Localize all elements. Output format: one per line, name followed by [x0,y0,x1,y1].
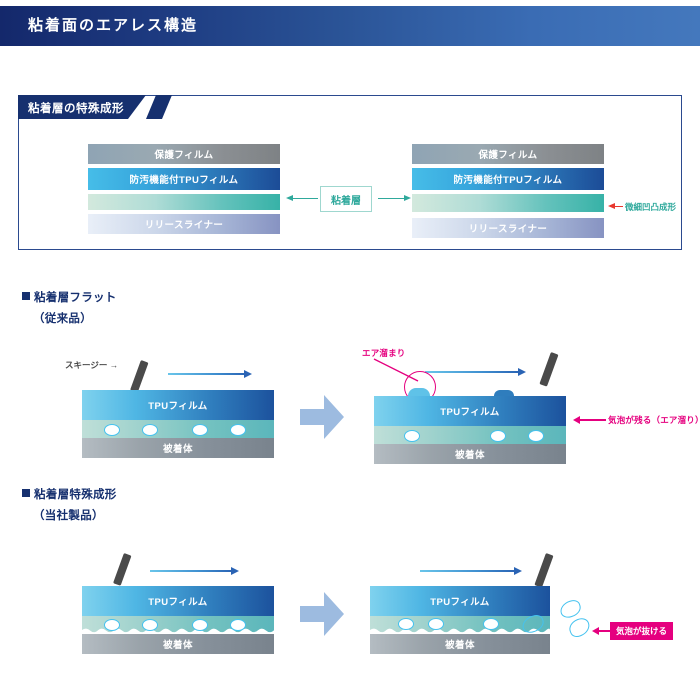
flat-left-diagram: TPUフィルム 被着体 [82,390,274,458]
adhesive-layer-textured [370,616,550,634]
adhesive-arrow-right-line [378,198,404,199]
section-flat-subheading: （従来品） [33,310,92,326]
substrate-layer: 被着体 [370,634,550,654]
escaping-air-bubble [567,616,593,640]
squeegee-icon [130,360,148,393]
squeegee-label: スキージー → [65,359,118,371]
adhesive-layer [82,420,274,438]
layer-release-liner: リリースライナー [412,218,604,238]
adhesive-layer-callout-box: 粘着層 [320,186,372,212]
layer-antifouling-tpu-film: 防汚機能付TPUフィルム [88,168,280,190]
squeegee-icon [534,553,553,588]
textured-right-diagram: TPUフィルム 被着体 [370,586,550,654]
air-bubble [142,619,158,631]
squeegee-icon [539,352,558,387]
section-flat-heading: 粘着層フラット [22,289,117,305]
tpu-film-layer: TPUフィルム [374,396,566,426]
air-bubble [490,430,506,442]
air-bubble [192,424,208,436]
air-pocket-label: エア溜まり [362,347,406,359]
section-textured-subheading: （当社製品） [33,507,104,523]
escaping-air-bubble [558,598,583,620]
panel-tab-label: 粘着層の特殊成形 [28,100,124,116]
layer-antifouling-tpu-film: 防汚機能付TPUフィルム [412,168,604,190]
micro-texture-arrow-line [614,206,623,207]
direction-arrow-line [168,373,246,375]
substrate-layer: 被着体 [374,444,566,464]
adhesive-arrow-left-line [292,198,318,199]
left-layer-stack: 保護フィルム 防汚機能付TPUフィルム リリースライナー [88,144,280,234]
section-textured-heading-text: 粘着層特殊成形 [34,489,117,501]
air-bubble [104,619,120,631]
air-bubble [192,619,208,631]
layer-protective-film: 保護フィルム [88,144,280,164]
substrate-layer: 被着体 [82,634,274,654]
textured-left-diagram: TPUフィルム 被着体 [82,586,274,654]
air-bubble [398,618,414,630]
direction-arrow-head [518,368,526,376]
air-bubble [230,424,246,436]
surface-bumps-row [374,388,566,396]
direction-arrow-head [514,567,522,575]
adhesive-layer [374,426,566,444]
air-bubble [404,430,420,442]
air-escape-label-box: 気泡が抜ける [610,622,673,640]
direction-arrow-line [150,570,233,572]
square-bullet-icon [22,489,30,497]
direction-arrow-head [231,567,239,575]
residual-air-label: 気泡が残る（エア溜り） [608,414,700,426]
surface-bump [408,388,430,396]
process-block-arrow [300,395,344,439]
residual-air-arrow-line [580,419,606,421]
section-flat-heading-text: 粘着層フラット [34,292,117,304]
adhesive-layer-textured [82,616,274,634]
layer-release-liner: リリースライナー [88,214,280,234]
process-block-arrow [300,592,344,636]
layer-adhesive-flat [88,194,280,210]
tpu-film-layer: TPUフィルム [82,390,274,420]
layer-adhesive-textured [412,194,604,212]
section-textured-heading: 粘着層特殊成形 [22,486,117,502]
substrate-layer: 被着体 [82,438,274,458]
air-bubble [104,424,120,436]
tpu-film-layer: TPUフィルム [370,586,550,616]
adhesive-arrow-right-head [404,195,411,201]
direction-arrow-line [420,570,516,572]
air-bubble [428,618,444,630]
layer-protective-film: 保護フィルム [412,144,604,164]
air-bubble [528,430,544,442]
square-bullet-icon [22,292,30,300]
micro-texture-label: 微細凹凸成形 [625,201,676,213]
air-bubble [142,424,158,436]
direction-arrow-line [425,371,520,373]
direction-arrow-head [244,370,252,378]
tpu-film-layer: TPUフィルム [82,586,274,616]
squeegee-icon [113,553,131,586]
residual-air-arrow-head [573,416,580,424]
air-bubble [483,618,499,630]
page-title: 粘着面のエアレス構造 [28,14,198,35]
air-bubble [230,619,246,631]
flat-right-diagram: TPUフィルム 被着体 [374,388,566,464]
right-layer-stack: 保護フィルム 防汚機能付TPUフィルム リリースライナー [412,144,604,238]
